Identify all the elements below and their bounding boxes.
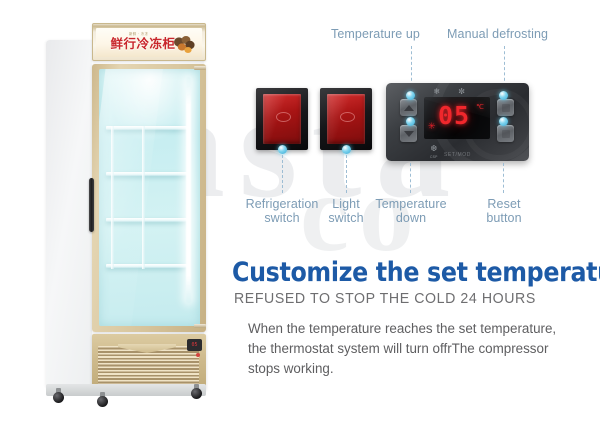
lcd-snowflake-led: ✳ bbox=[428, 121, 436, 132]
light-switch[interactable] bbox=[320, 88, 372, 150]
leader-line-refrigeration bbox=[282, 155, 283, 193]
callout-light-switch: Light switch bbox=[322, 197, 370, 225]
callout-node-temperature-down bbox=[406, 117, 415, 126]
screenshot-root: asta co 鲜行冷冻柜 新鲜 · 冷冻 bbox=[0, 0, 600, 443]
caster-wheel bbox=[96, 392, 109, 407]
cabinet-temp-display: 05 bbox=[187, 339, 202, 351]
top-signage-banner: 鲜行冷冻柜 新鲜 · 冷冻 bbox=[92, 23, 206, 61]
cabinet-power-led bbox=[196, 353, 200, 357]
shelf bbox=[106, 126, 187, 130]
shelf bbox=[106, 218, 187, 222]
door-handle[interactable] bbox=[89, 178, 94, 232]
bottom-ventilation-grille: 05 bbox=[92, 334, 206, 390]
temperature-down-button[interactable] bbox=[400, 125, 417, 142]
glass-reflection bbox=[99, 69, 166, 326]
reset-button[interactable] bbox=[497, 125, 514, 142]
leader-line-light bbox=[346, 155, 347, 193]
callout-node-light bbox=[342, 145, 351, 154]
callout-node-manual-defrost bbox=[499, 91, 508, 100]
compressor-icon: ❆CSP bbox=[430, 145, 438, 161]
callout-node-temperature-up bbox=[406, 91, 415, 100]
cabinet-temp-value: 05 bbox=[191, 342, 197, 348]
shelf bbox=[106, 264, 187, 268]
leader-line-temperature-up bbox=[411, 46, 412, 86]
callout-node-refrigeration bbox=[278, 145, 287, 154]
door-hinge-bottom bbox=[194, 324, 206, 328]
manual-defrost-button[interactable] bbox=[497, 99, 514, 116]
shelf-support bbox=[111, 126, 114, 270]
caster-wheel bbox=[190, 384, 203, 399]
glass-door-frame bbox=[92, 64, 206, 332]
cabinet-base-rail bbox=[46, 384, 206, 396]
leader-line-temperature-down bbox=[410, 163, 411, 193]
callout-manual-defrosting: Manual defrosting bbox=[447, 27, 548, 41]
set-mode-label: SET/MOD bbox=[444, 152, 471, 158]
door-hinge-top bbox=[194, 66, 206, 70]
shelf-support bbox=[142, 126, 145, 270]
lcd-temperature-unit: ℃ bbox=[476, 103, 484, 111]
page-headline: Customize the set temperature bbox=[232, 258, 600, 288]
temperature-lcd-display: ✳ 05 ℃ bbox=[424, 97, 490, 139]
caster-wheel bbox=[52, 388, 65, 403]
signage-sub-text: 新鲜 · 冷冻 bbox=[129, 31, 148, 36]
leader-line-reset bbox=[503, 163, 504, 193]
leader-line-manual-defrosting bbox=[504, 46, 505, 86]
callout-node-reset bbox=[499, 117, 508, 126]
glass-door-pane bbox=[99, 69, 200, 326]
description-paragraph: When the temperature reaches the set tem… bbox=[248, 319, 568, 379]
lcd-temperature-value: 05 bbox=[438, 103, 470, 128]
freezer-product-image: 鲜行冷冻柜 新鲜 · 冷冻 bbox=[44, 6, 234, 421]
food-illustration-icon bbox=[171, 34, 197, 54]
callout-reset-button: Reset button bbox=[478, 197, 530, 225]
callout-temperature-down: Temperature down bbox=[368, 197, 454, 225]
callout-refrigeration-switch: Refrigeration switch bbox=[230, 197, 334, 225]
callout-temperature-up: Temperature up bbox=[331, 27, 420, 41]
temperature-up-button[interactable] bbox=[400, 99, 417, 116]
page-subheadline: REFUSED TO STOP THE COLD 24 HOURS bbox=[234, 291, 536, 307]
shelf bbox=[106, 172, 187, 176]
interior-light-tube bbox=[186, 77, 191, 303]
refrigeration-switch[interactable] bbox=[256, 88, 308, 150]
